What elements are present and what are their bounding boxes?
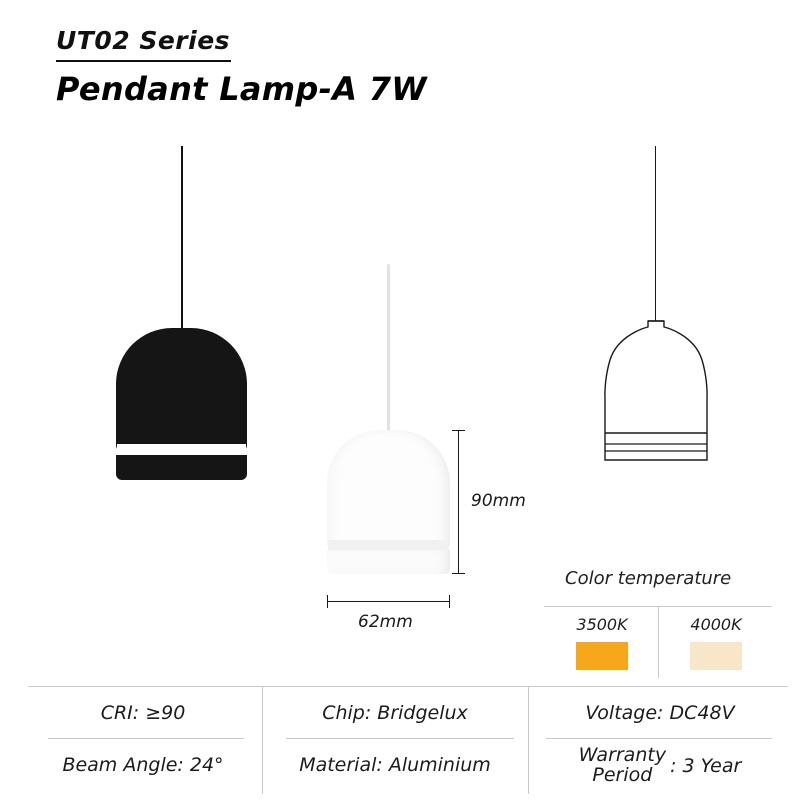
series-title-underline [56, 60, 231, 62]
white-lamp-cord [387, 264, 390, 431]
black-lamp-base [116, 455, 247, 480]
spec-chip: Chip: Bridgelux [266, 702, 524, 724]
color-temperature-divider [658, 606, 659, 678]
color-swatch-3500k [576, 642, 628, 670]
spec-table-top-rule [28, 686, 788, 687]
black-lamp-body [116, 328, 247, 452]
color-temperature-title: Color temperature [565, 568, 731, 589]
spec-table-row-rule-1 [48, 738, 244, 739]
spec-warranty-value: : 3 Year [670, 755, 741, 777]
color-temperature-label-4000k: 4000K [660, 615, 772, 634]
color-temperature-option-4000k[interactable]: 4000K [660, 615, 772, 670]
black-lamp-light-stripe [117, 444, 246, 455]
series-title: UT02 Series [56, 26, 230, 55]
spec-table-row-rule-2 [286, 738, 514, 739]
color-temperature-option-3500k[interactable]: 3500K [546, 615, 658, 670]
white-lamp-image [327, 430, 450, 574]
height-dimension-label: 90mm [471, 491, 526, 511]
black-lamp-image [116, 328, 247, 480]
white-lamp-body [327, 430, 450, 549]
width-dimension-label: 62mm [358, 612, 413, 632]
spec-beam-angle: Beam Angle: 24° [28, 754, 258, 776]
spec-table-divider-1 [262, 686, 263, 794]
color-temperature-label-3500k: 3500K [546, 615, 658, 634]
color-swatch-4000k [690, 642, 742, 670]
spec-warranty-label: Warranty Period [579, 746, 666, 786]
spec-voltage: Voltage: DC48V [532, 702, 788, 724]
spec-warranty: Warranty Period : 3 Year [532, 746, 788, 786]
spec-warranty-label-line2: Period [579, 766, 666, 786]
spec-table-divider-2 [528, 686, 529, 794]
spec-material: Material: Aluminium [266, 754, 524, 776]
spec-warranty-label-line1: Warranty [579, 746, 666, 766]
black-lamp-cord [181, 146, 183, 329]
white-lamp-base [327, 550, 450, 574]
outline-lamp-cord [655, 146, 656, 321]
height-dimension-line [458, 430, 459, 574]
product-title: Pendant Lamp-A 7W [56, 70, 427, 108]
spec-cri: CRI: ≥90 [28, 702, 258, 724]
white-lamp-light-stripe [328, 540, 449, 550]
width-dimension-line [327, 601, 450, 602]
product-spec-sheet: UT02 Series Pendant Lamp-A 7W 90mm 62mm … [0, 0, 800, 800]
outline-lamp-drawing [596, 318, 716, 484]
spec-table-row-rule-3 [546, 738, 772, 739]
